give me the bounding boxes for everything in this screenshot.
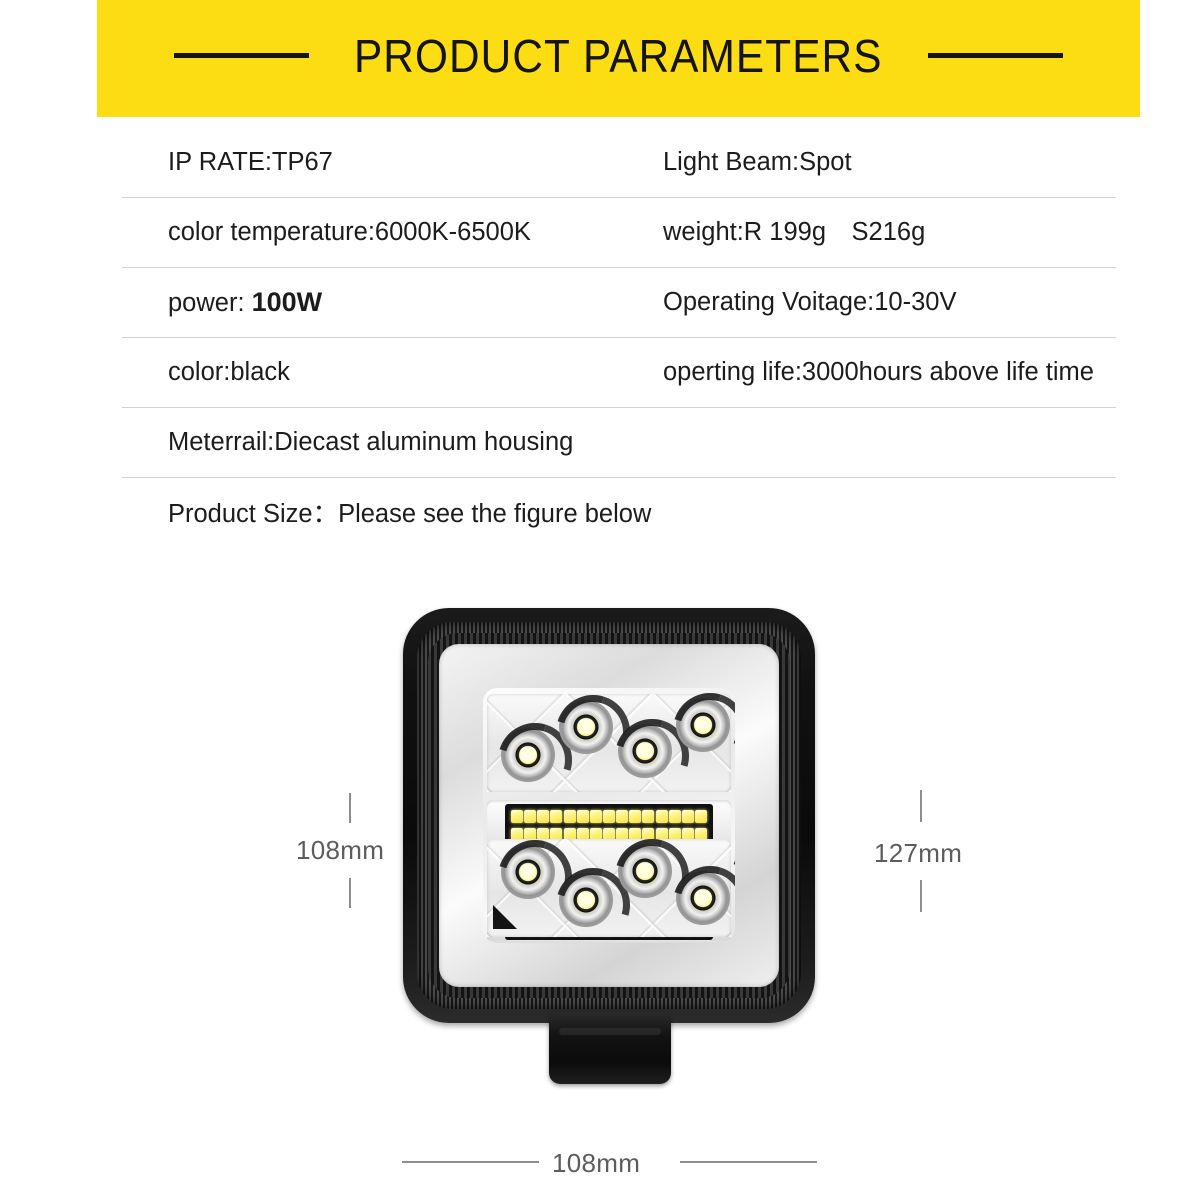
- header-banner: PRODUCT PARAMETERS: [97, 0, 1140, 117]
- bottom-dimension-label: 108mm: [552, 1148, 640, 1179]
- table-row: Meterrail:Diecast aluminum housing: [122, 408, 1116, 478]
- spec-ip-rate: IP RATE:TP67: [122, 150, 653, 176]
- right-dimension-label: 127mm: [874, 838, 962, 869]
- spec-color-temperature: color temperature:6000K-6500K: [122, 220, 653, 246]
- lamp-lens-frame: [439, 644, 779, 987]
- spec-power: power: 100W: [122, 289, 653, 317]
- spec-light-beam: Light Beam:Spot: [653, 150, 1116, 176]
- header-banner-content: PRODUCT PARAMETERS: [97, 29, 1140, 83]
- spec-power-label: power:: [168, 289, 252, 317]
- product-image-led-work-light: [403, 608, 815, 1023]
- spec-power-value: 100W: [252, 287, 323, 317]
- lamp-lens: [483, 688, 735, 943]
- reflector-led: [501, 845, 555, 899]
- corner-marker-icon: [493, 905, 517, 929]
- reflector-led: [618, 844, 672, 898]
- led-zone-top: [487, 694, 731, 792]
- banner-left-rule: [174, 53, 309, 58]
- reflector-led: [559, 700, 613, 754]
- table-row: power: 100W Operating Voitage:10-30V: [122, 268, 1116, 338]
- table-row: IP RATE:TP67 Light Beam:Spot: [122, 128, 1116, 198]
- spec-weight: weight:R 199g S216g: [653, 220, 1116, 246]
- spec-operating-life: operting life:3000hours above life time: [653, 360, 1116, 386]
- reflector-led: [618, 724, 672, 778]
- spec-color: color:black: [122, 360, 653, 386]
- product-size-note-row: Product Size：Please see the figure below: [122, 478, 1116, 552]
- led-zone-bottom: [487, 839, 731, 937]
- left-dimension-tick-top: [349, 793, 351, 823]
- bottom-dimension-rule-left: [402, 1161, 539, 1163]
- bottom-dimension-rule-right: [680, 1161, 817, 1163]
- table-row: color temperature:6000K-6500K weight:R 1…: [122, 198, 1116, 268]
- reflector-led: [676, 871, 730, 925]
- left-dimension-label: 108mm: [296, 835, 384, 866]
- spec-operating-voltage: Operating Voitage:10-30V: [653, 290, 1116, 316]
- reflector-led: [501, 728, 555, 782]
- spec-table: IP RATE:TP67 Light Beam:Spot color tempe…: [122, 128, 1116, 552]
- lamp-housing: [403, 608, 815, 1023]
- right-dimension-tick-bottom: [920, 880, 922, 912]
- reflector-led: [559, 873, 613, 927]
- smd-row: [511, 810, 707, 823]
- page-title: PRODUCT PARAMETERS: [354, 29, 883, 83]
- spec-material: Meterrail:Diecast aluminum housing: [122, 430, 573, 456]
- left-dimension-tick-bottom: [349, 878, 351, 908]
- mounting-bracket: [549, 1012, 671, 1084]
- product-size-note: Product Size：Please see the figure below: [122, 502, 651, 528]
- right-dimension-tick-top: [920, 790, 922, 822]
- reflector-led: [676, 698, 730, 752]
- table-row: color:black operting life:3000hours abov…: [122, 338, 1116, 408]
- banner-right-rule: [928, 53, 1063, 58]
